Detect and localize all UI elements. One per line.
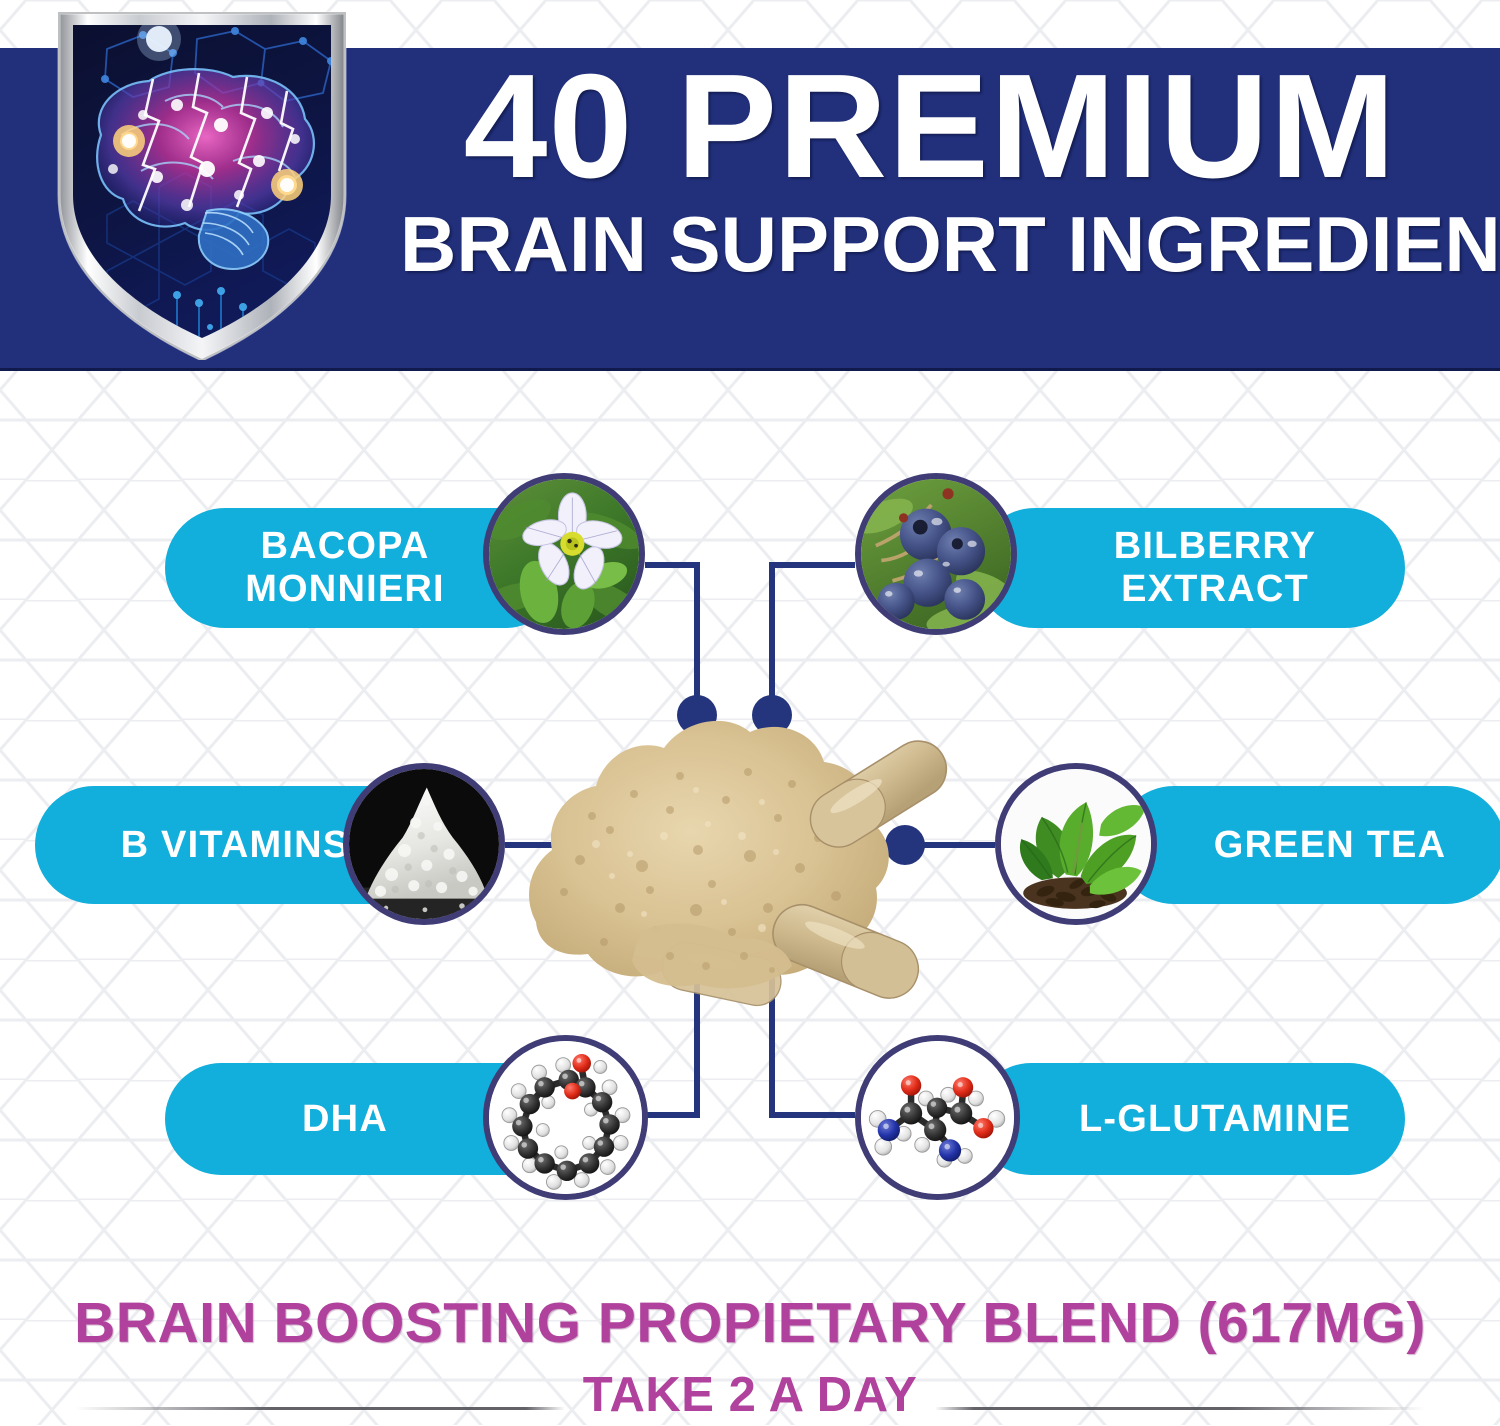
ingredient-label-line: GREEN TEA (1214, 824, 1447, 867)
ingredient-label-line: EXTRACT (1114, 568, 1316, 611)
ingredient-image-green-tea-leaves-photo (995, 763, 1157, 925)
ingredient-pill-l-glutamine[interactable]: L-GLUTAMINE (975, 1063, 1405, 1175)
footer-block: BRAIN BOOSTING PROPIETARY BLEND (617MG) … (0, 1290, 1500, 1426)
ingredient-image-white-powder-photo (343, 763, 505, 925)
ingredient-label-line: DHA (302, 1098, 388, 1141)
ingredient-pill-bilberry-extract[interactable]: BILBERRY EXTRACT (975, 508, 1405, 628)
brain-shield-icon (47, 5, 357, 360)
page-title: 40 PREMIUM (389, 55, 1470, 199)
ingredient-image-dha-molecule-model (483, 1035, 648, 1200)
ingredient-label-line: B VITAMINS (121, 824, 350, 867)
ingredient-image-bacopa-flower-photo (483, 473, 645, 635)
ingredient-label-line: L-GLUTAMINE (1079, 1098, 1351, 1141)
ingredient-image-l-glutamine-molecule-model (855, 1035, 1020, 1200)
ingredient-image-bilberry-berries-photo (855, 473, 1017, 635)
dose-instruction: TAKE 2 A DAY (0, 1364, 1500, 1426)
header-title-block: 40 PREMIUM BRAIN SUPPORT INGREDIENTS (400, 55, 1460, 283)
ingredient-label-line: MONNIERI (245, 568, 445, 611)
ingredient-pill-green-tea[interactable]: GREEN TEA (1115, 786, 1500, 904)
page-subtitle: BRAIN SUPPORT INGREDIENTS (400, 205, 1460, 283)
blend-headline: BRAIN BOOSTING PROPIETARY BLEND (617MG) (0, 1290, 1500, 1356)
divider-left (75, 1407, 565, 1410)
powder-pile-and-capsules-image (500, 660, 980, 1030)
ingredient-label-line: BACOPA (245, 525, 445, 568)
ingredient-label-line: BILBERRY (1114, 525, 1316, 568)
divider-right (935, 1407, 1425, 1410)
dose-row: TAKE 2 A DAY (0, 1364, 1500, 1426)
